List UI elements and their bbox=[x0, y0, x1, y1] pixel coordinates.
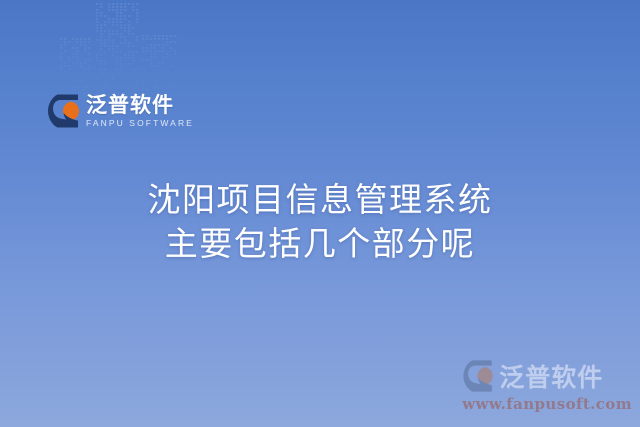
brand-logo: 泛普软件 FANPU SOFTWARE bbox=[47, 93, 194, 129]
fanpu-logo-mark-icon bbox=[47, 93, 81, 129]
brand-name-en: FANPU SOFTWARE bbox=[86, 119, 194, 128]
watermark: 泛普软件 www.fanpusoft.com bbox=[462, 358, 632, 413]
watermark-name-cn: 泛普软件 bbox=[499, 358, 603, 394]
page-title: 沈阳项目信息管理系统 主要包括几个部分呢 bbox=[0, 178, 640, 266]
page-title-line-1: 沈阳项目信息管理系统 bbox=[0, 178, 640, 222]
brand-wordmark: 泛普软件 FANPU SOFTWARE bbox=[86, 95, 194, 128]
banner-canvas: 泛普软件 FANPU SOFTWARE 沈阳项目信息管理系统 主要包括几个部分呢… bbox=[0, 0, 640, 427]
page-title-line-2: 主要包括几个部分呢 bbox=[0, 222, 640, 266]
watermark-url: www.fanpusoft.com bbox=[462, 395, 632, 413]
dotted-buildings-icon bbox=[56, 0, 186, 96]
fanpu-logo-mark-icon bbox=[462, 359, 495, 393]
watermark-logo: 泛普软件 bbox=[462, 358, 632, 394]
brand-name-cn: 泛普软件 bbox=[86, 95, 194, 116]
